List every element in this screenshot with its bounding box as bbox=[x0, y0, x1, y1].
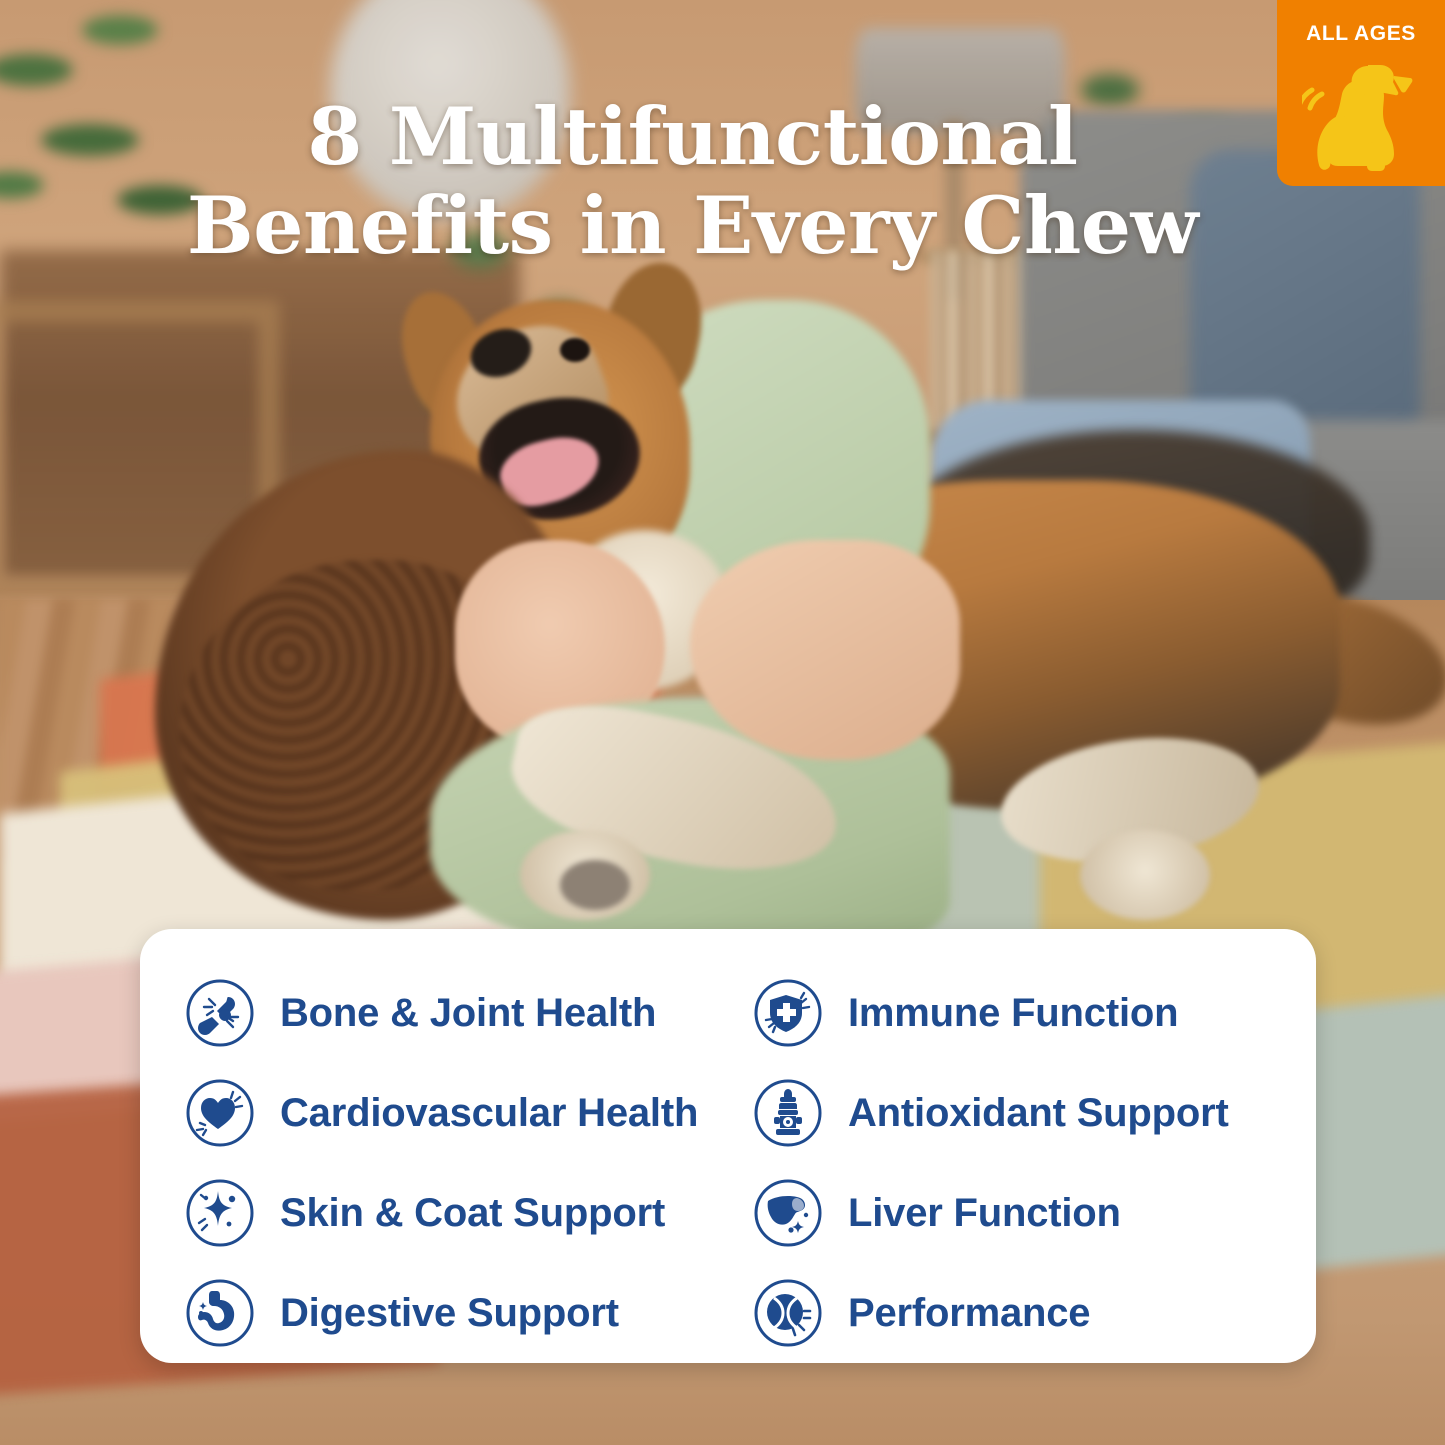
benefit-label: Liver Function bbox=[848, 1191, 1121, 1236]
shield-plus-icon bbox=[752, 977, 824, 1049]
benefit-item-immune-function[interactable]: Immune Function bbox=[740, 963, 1316, 1063]
tennis-ball-icon bbox=[752, 1277, 824, 1349]
benefits-card: Bone & Joint Health Immune Function bbox=[140, 929, 1316, 1363]
benefit-label: Bone & Joint Health bbox=[280, 991, 656, 1036]
title-line-2: Benefits in Every Chew bbox=[60, 181, 1325, 270]
stomach-icon bbox=[184, 1277, 256, 1349]
fire-hydrant-icon bbox=[752, 1077, 824, 1149]
dog-eye bbox=[560, 338, 590, 362]
rug-band-sage-right bbox=[1300, 989, 1445, 1270]
benefit-label: Digestive Support bbox=[280, 1291, 619, 1336]
dog-hind-paw bbox=[1080, 830, 1210, 920]
benefit-label: Antioxidant Support bbox=[848, 1091, 1229, 1136]
benefit-item-antioxidant-support[interactable]: Antioxidant Support bbox=[740, 1063, 1316, 1163]
heart-icon bbox=[184, 1077, 256, 1149]
benefit-item-cardiovascular-health[interactable]: Cardiovascular Health bbox=[140, 1063, 740, 1163]
sitting-dog-icon bbox=[1302, 50, 1420, 183]
page-title: 8 Multifunctional Benefits in Every Chew bbox=[0, 92, 1445, 271]
title-line-1: 8 Multifunctional bbox=[60, 92, 1325, 181]
liver-icon bbox=[752, 1177, 824, 1249]
benefit-label: Performance bbox=[848, 1291, 1090, 1336]
all-ages-label: ALL AGES bbox=[1306, 22, 1416, 46]
bone-joint-icon bbox=[184, 977, 256, 1049]
benefit-item-skin-coat-support[interactable]: Skin & Coat Support bbox=[140, 1163, 740, 1263]
benefit-label: Cardiovascular Health bbox=[280, 1091, 698, 1136]
benefit-label: Skin & Coat Support bbox=[280, 1191, 665, 1236]
benefit-item-digestive-support[interactable]: Digestive Support bbox=[140, 1263, 740, 1363]
benefit-label: Immune Function bbox=[848, 991, 1178, 1036]
all-ages-badge: ALL AGES bbox=[1277, 0, 1445, 186]
dog-front-paw-pads bbox=[560, 860, 630, 910]
benefit-item-bone-joint-health[interactable]: Bone & Joint Health bbox=[140, 963, 740, 1063]
benefit-item-liver-function[interactable]: Liver Function bbox=[740, 1163, 1316, 1263]
sparkle-icon bbox=[184, 1177, 256, 1249]
benefit-item-performance[interactable]: Performance bbox=[740, 1263, 1316, 1363]
